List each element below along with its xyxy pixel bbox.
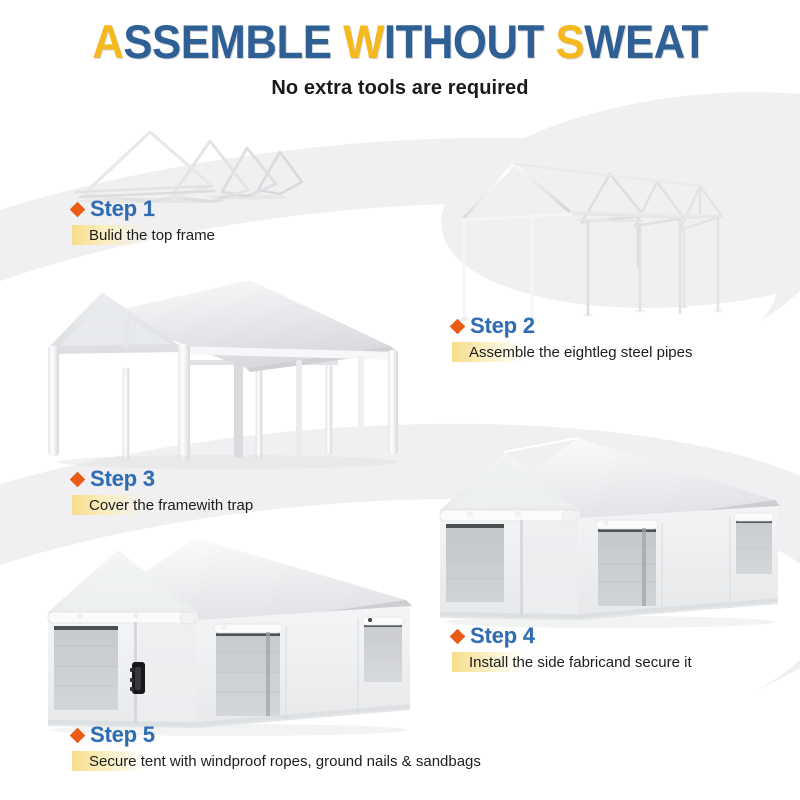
step-5-title: Step 5 <box>90 724 155 746</box>
door-hardware <box>130 662 145 694</box>
diamond-bullet-icon <box>70 728 86 744</box>
step-4-header: Step 4 <box>452 625 692 647</box>
step-5: Step 5 Secure tent with windproof ropes,… <box>72 724 481 772</box>
step-4-title: Step 4 <box>470 625 535 647</box>
diamond-bullet-icon <box>450 319 466 335</box>
step-3: Step 3 Cover the framewith trap <box>72 468 253 516</box>
illustration-step-2 <box>452 158 752 323</box>
title-part-4: S <box>555 15 584 68</box>
step-2-description-wrap: Assemble the eightleg steel pipes <box>452 343 692 363</box>
step-4: Step 4 Install the side fabricand secure… <box>452 625 692 673</box>
step-4-description: Install the side fabricand secure it <box>469 654 692 671</box>
step-1-description: Bulid the top frame <box>89 227 215 244</box>
step-1-title: Step 1 <box>90 198 155 220</box>
step-1-header: Step 1 <box>72 198 215 220</box>
title-part-1: SSEMBLE <box>123 15 343 68</box>
diamond-bullet-icon <box>70 472 86 488</box>
step-2-header: Step 2 <box>452 315 692 337</box>
step-1-description-wrap: Bulid the top frame <box>72 226 215 246</box>
step-3-description-wrap: Cover the framewith trap <box>72 496 253 516</box>
page-subtitle: No extra tools are required <box>0 65 800 100</box>
step-5-header: Step 5 <box>72 724 481 746</box>
step-4-description-wrap: Install the side fabricand secure it <box>452 653 692 673</box>
step-2-description: Assemble the eightleg steel pipes <box>469 344 692 361</box>
illustration-step-1 <box>62 108 332 203</box>
step-5-description-wrap: Secure tent with windproof ropes, ground… <box>72 752 481 772</box>
title-part-5: WEAT <box>584 15 708 68</box>
step-2: Step 2 Assemble the eightleg steel pipes <box>452 315 692 363</box>
title-part-2: W <box>343 15 384 68</box>
step-3-header: Step 3 <box>72 468 253 490</box>
infographic-page: ASSEMBLE WITHOUT SWEAT No extra tools ar… <box>0 0 800 800</box>
step-3-description: Cover the framewith trap <box>89 497 253 514</box>
header: ASSEMBLE WITHOUT SWEAT No extra tools ar… <box>0 0 800 100</box>
title-part-3: ITHOUT <box>384 15 556 68</box>
diamond-bullet-icon <box>450 629 466 645</box>
step-2-title: Step 2 <box>470 315 535 337</box>
illustration-step-5 <box>40 528 440 738</box>
step-1: Step 1 Bulid the top frame <box>72 198 215 246</box>
step-5-description: Secure tent with windproof ropes, ground… <box>89 753 481 770</box>
illustration-step-3 <box>38 272 438 470</box>
illustration-step-4 <box>430 432 800 628</box>
step-3-title: Step 3 <box>90 468 155 490</box>
page-title: ASSEMBLE WITHOUT SWEAT <box>28 0 772 65</box>
diamond-bullet-icon <box>70 202 86 218</box>
title-part-0: A <box>92 15 123 68</box>
